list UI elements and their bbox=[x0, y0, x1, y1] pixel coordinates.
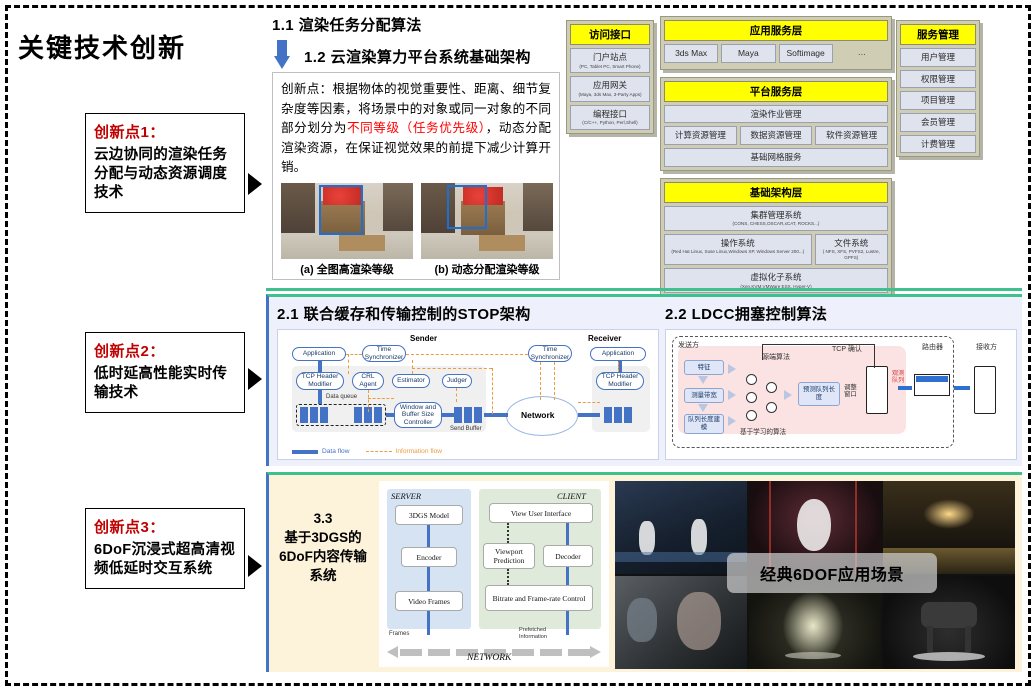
application-service-layer-panel: 应用服务层 3ds Max Maya Softimage … bbox=[660, 16, 892, 70]
section-3-tag-number: 3.3 bbox=[279, 509, 367, 528]
legend-data-flow-label: Data flow bbox=[322, 448, 350, 455]
access-item-api: 编程接口 (C/C++, Python, Perl,Shell) bbox=[570, 105, 650, 130]
client-label: CLIENT bbox=[557, 491, 586, 501]
stop-data-queue-label: Data queue bbox=[326, 394, 357, 400]
stop-send-buffer-label: Send Buffer bbox=[450, 426, 482, 432]
ldcc-router-indicator bbox=[916, 376, 948, 382]
innovation-card-1[interactable]: 创新点1： 云边协同的渲染任务分配与动态资源调度技术 bbox=[85, 113, 245, 213]
svc-member-mgmt: 会员管理 bbox=[900, 113, 976, 132]
access-interface-title: 访问接口 bbox=[570, 24, 650, 45]
stop-judger: Judger bbox=[442, 374, 472, 388]
server-label: SERVER bbox=[391, 491, 421, 501]
platform-resource-row: 计算资源管理 数据资源管理 软件资源管理 bbox=[664, 126, 888, 148]
ldcc-link-left bbox=[898, 386, 912, 390]
platform-service-layer-panel: 平台服务层 渲染作业管理 计算资源管理 数据资源管理 软件资源管理 基础网格服务 bbox=[660, 77, 892, 171]
6dof-system-diagram: SERVER CLIENT 3DGS Model Encoder Video F… bbox=[379, 481, 609, 667]
innovation-description-text: 创新点：根据物体的视觉重要性、距离、细节复杂度等因素，将场景中的对象或同一对象的… bbox=[281, 80, 551, 178]
render-comparison-images bbox=[281, 183, 553, 259]
section-3-panel: 3.3 基于3DGS的6DoF内容传输系统 SERVER CLIENT 3DGS… bbox=[266, 472, 1022, 672]
down-arrow-icon bbox=[274, 40, 290, 70]
frames-label: Frames bbox=[389, 631, 409, 637]
arrow-to-section-1-icon bbox=[248, 173, 262, 195]
innovation-2-body: 低时延高性能实时传输技术 bbox=[94, 365, 236, 403]
stop-architecture-block: 2.1 联合缓存和传输控制的STOP架构 Sender Receiver App… bbox=[277, 303, 659, 460]
innovation-description-card: 创新点：根据物体的视觉重要性、距离、细节复杂度等因素，将场景中的对象或同一对象的… bbox=[272, 72, 560, 280]
service-layers-column: 应用服务层 3ds Max Maya Softimage … 平台服务层 渲染作… bbox=[660, 16, 892, 341]
ldcc-source-algo-label: 源端算法 bbox=[762, 352, 790, 362]
ldcc-observe-queue-label: 观测队列 bbox=[892, 370, 906, 384]
access-item-portal: 门户站点 (PC, Tablet PC, Smart Phone) bbox=[570, 48, 650, 73]
access-item-gateway: 应用网关 (Maya, 3ds Max, 3-Party Apps) bbox=[570, 76, 650, 101]
page-title: 关键技术创新 bbox=[18, 28, 186, 65]
heading-2-1: 2.1 联合缓存和传输控制的STOP架构 bbox=[277, 303, 659, 324]
arrow-to-section-2-icon bbox=[248, 368, 262, 390]
platform-layer-title: 平台服务层 bbox=[664, 81, 888, 102]
ldcc-diagram: 发送方 TCP 确认 源端算法 特征 测量带宽 队列长度建模 基于学习的算法 预… bbox=[665, 329, 1017, 460]
innovation-3-heading: 创新点3： bbox=[94, 516, 236, 537]
ldcc-block: 2.2 LDCC拥塞控制算法 发送方 TCP 确认 源端算法 特征 测量带宽 队… bbox=[665, 303, 1017, 460]
infra-os-fs-row: 操作系统 (Red Hat Linux, Suse Linux,Windows … bbox=[664, 234, 888, 268]
stop-crl-agent: CRL Agent bbox=[352, 372, 384, 390]
ldcc-receiver-label: 接收方 bbox=[976, 342, 997, 352]
innovation-1-heading: 创新点1： bbox=[94, 121, 236, 142]
caption-b: (b) 动态分配渲染等级 bbox=[421, 261, 553, 277]
stop-sender-time-synchronizer: Time Synchronizer bbox=[362, 345, 406, 362]
ldcc-router-label: 路由器 bbox=[922, 342, 943, 352]
infra-file-system: 文件系统 ( NFS, XFS, PVFS2, Lustre, GPFS) bbox=[815, 234, 888, 265]
svc-project-mgmt: 项目管理 bbox=[900, 91, 976, 110]
node-decoder: Decoder bbox=[543, 545, 593, 567]
6dof-application-collage: 经典6DOF应用场景 bbox=[615, 481, 1015, 669]
ldcc-link-right bbox=[954, 386, 970, 390]
innovation-card-2[interactable]: 创新点2： 低时延高性能实时传输技术 bbox=[85, 332, 245, 413]
stop-sender-label: Sender bbox=[410, 334, 437, 343]
node-encoder: Encoder bbox=[401, 547, 457, 567]
stop-network-label: Network bbox=[521, 410, 555, 420]
infra-cluster-mgmt: 集群管理系统 (CONS, CHESS,OSCAR,xCAT, ROCKS...… bbox=[664, 206, 888, 231]
ldcc-learning-algo-label: 基于学习的算法 bbox=[740, 426, 786, 436]
ldcc-adjust-window-label: 调整窗口 bbox=[844, 384, 862, 399]
svc-billing-mgmt: 计费管理 bbox=[900, 135, 976, 154]
section-3-tag-text: 基于3DGS的6DoF内容传输系统 bbox=[279, 528, 367, 585]
svc-user-mgmt: 用户管理 bbox=[900, 48, 976, 67]
section-1-divider bbox=[266, 288, 1022, 291]
heading-1-2: 1.2 云渲染算力平台系统基础架构 bbox=[304, 46, 531, 67]
render-image-b bbox=[421, 183, 553, 259]
ldcc-queue-model-node: 队列长度建模 bbox=[684, 414, 724, 434]
heading-1-1: 1.1 渲染任务分配算法 bbox=[272, 14, 422, 35]
ldcc-ack-line bbox=[762, 344, 874, 345]
stop-window-buffer-controller: Window and Buffer Size Controller bbox=[394, 402, 442, 428]
caption-a: (a) 全图高渲染等级 bbox=[281, 261, 413, 277]
platform-software-resource: 软件资源管理 bbox=[815, 126, 888, 145]
infra-operating-system: 操作系统 (Red Hat Linux, Suse Linux,Windows … bbox=[664, 234, 812, 265]
node-3dgs-model: 3DGS Model bbox=[395, 505, 463, 525]
node-video-frames: Video Frames bbox=[395, 591, 463, 611]
section-1-panel: 1.1 渲染任务分配算法 1.2 云渲染算力平台系统基础架构 创新点：根据物体的… bbox=[266, 10, 1022, 288]
heading-2-2: 2.2 LDCC拥塞控制算法 bbox=[665, 303, 1017, 324]
innovation-1-body: 云边协同的渲染任务分配与动态资源调度技术 bbox=[94, 146, 236, 203]
service-management-column: 服务管理 用户管理 权限管理 项目管理 会员管理 计费管理 bbox=[896, 20, 980, 164]
ldcc-sender-label: 发送方 bbox=[678, 340, 699, 350]
render-image-captions: (a) 全图高渲染等级 (b) 动态分配渲染等级 bbox=[281, 261, 553, 277]
stop-receiver-application: Application bbox=[590, 347, 646, 361]
arrow-to-section-3-icon bbox=[248, 555, 262, 577]
prefetched-info-label: Prefetched Information bbox=[519, 627, 565, 640]
stop-receiver-tcp-header-modifier: TCP Header Modifier bbox=[596, 372, 644, 390]
ldcc-receiver-device bbox=[974, 366, 996, 414]
ldcc-bandwidth-node: 测量带宽 bbox=[684, 388, 724, 403]
ldcc-sender-device bbox=[866, 366, 888, 414]
collage-tile-vr-user bbox=[615, 576, 747, 669]
platform-grid-service: 基础网格服务 bbox=[664, 148, 888, 167]
platform-data-resource: 数据资源管理 bbox=[740, 126, 813, 145]
platform-compute-resource: 计算资源管理 bbox=[664, 126, 737, 145]
platform-render-job-mgmt: 渲染作业管理 bbox=[664, 105, 888, 124]
render-image-a bbox=[281, 183, 413, 259]
collage-caption: 经典6DOF应用场景 bbox=[727, 553, 937, 593]
section-3-tag: 3.3 基于3DGS的6DoF内容传输系统 bbox=[275, 501, 371, 594]
stop-sender-application: Application bbox=[292, 347, 346, 361]
application-layer-items: 3ds Max Maya Softimage … bbox=[664, 44, 888, 66]
desc-highlight: 不同等级（任务优先级） bbox=[347, 121, 486, 135]
node-viewport-prediction: Viewport Prediction bbox=[483, 543, 535, 569]
innovation-2-heading: 创新点2： bbox=[94, 340, 236, 361]
ldcc-feature-node: 特征 bbox=[684, 360, 724, 375]
stop-estimator: Estimator bbox=[392, 374, 430, 388]
service-management-title: 服务管理 bbox=[900, 24, 976, 45]
access-interface-panel: 访问接口 门户站点 (PC, Tablet PC, Smart Phone) 应… bbox=[566, 20, 654, 134]
ldcc-tcp-ack-label: TCP 确认 bbox=[832, 344, 862, 354]
infrastructure-layer-title: 基础架构层 bbox=[664, 182, 888, 203]
app-item-3dsmax: 3ds Max bbox=[664, 44, 718, 63]
legend-info-flow-label: Information flow bbox=[396, 448, 443, 455]
stop-legend: Data flow Information flow bbox=[292, 448, 442, 455]
network-label: NETWORK bbox=[467, 653, 511, 663]
app-item-maya: Maya bbox=[721, 44, 775, 63]
stop-receiver-time-synchronizer: Time Synchronizer bbox=[528, 345, 572, 362]
ldcc-predict-queue-node: 预测队列长度 bbox=[798, 382, 840, 406]
node-bitrate-framerate-control: Bitrate and Frame-rate Control bbox=[485, 585, 593, 611]
node-view-user-interface: View User Interface bbox=[489, 503, 593, 523]
cloud-render-architecture-diagram: 访问接口 门户站点 (PC, Tablet PC, Smart Phone) 应… bbox=[566, 16, 1018, 284]
svc-permission-mgmt: 权限管理 bbox=[900, 70, 976, 89]
app-item-softimage: Softimage bbox=[779, 44, 833, 63]
legend-info-flow-swatch bbox=[366, 451, 392, 452]
innovation-3-body: 6DoF沉浸式超高清视频低延时交互系统 bbox=[94, 541, 236, 579]
app-item-more: … bbox=[836, 44, 888, 63]
service-management-panel: 服务管理 用户管理 权限管理 项目管理 会员管理 计费管理 bbox=[896, 20, 980, 157]
stop-receiver-label: Receiver bbox=[588, 334, 621, 343]
application-layer-title: 应用服务层 bbox=[664, 20, 888, 41]
stop-sender-tcp-header-modifier: TCP Header Modifier bbox=[296, 372, 344, 390]
section-2-panel: 2.1 联合缓存和传输控制的STOP架构 Sender Receiver App… bbox=[266, 294, 1022, 466]
stop-architecture-diagram: Sender Receiver Application Time Synchro… bbox=[277, 329, 659, 460]
legend-data-flow-swatch bbox=[292, 450, 318, 454]
access-interface-column: 访问接口 门户站点 (PC, Tablet PC, Smart Phone) 应… bbox=[566, 20, 654, 141]
innovation-card-3[interactable]: 创新点3： 6DoF沉浸式超高清视频低延时交互系统 bbox=[85, 508, 245, 589]
